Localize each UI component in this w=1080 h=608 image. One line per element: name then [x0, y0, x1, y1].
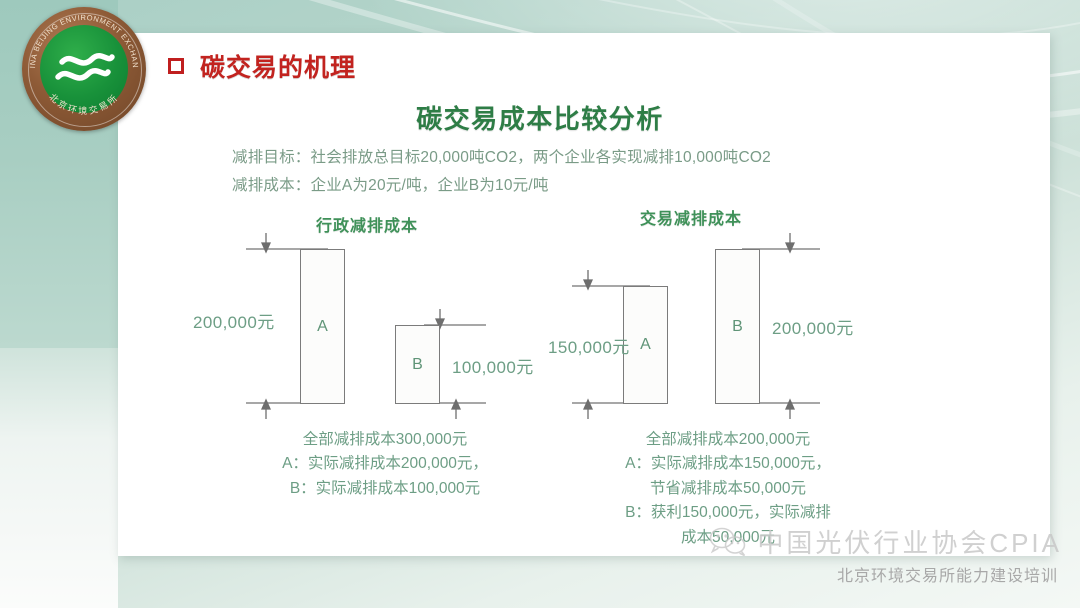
bar-left-b: B [395, 325, 440, 404]
chart-subtitle-2: 减排成本：企业A为20元/吨，企业B为10元/吨 [232, 173, 549, 195]
chart-title: 碳交易成本比较分析 [0, 99, 1080, 136]
chart-subtitle-1: 减排目标：社会排放总目标20,000吨CO2，两个企业各实现减排10,000吨C… [232, 145, 771, 167]
square-bullet-icon [168, 58, 184, 74]
value-label-right-b: 200,000元 [772, 314, 854, 339]
panel-label-trading: 交易减排成本 [640, 205, 742, 229]
svg-text:CHINA BEIJING ENVIRONMENT EXCH: CHINA BEIJING ENVIRONMENT EXCHANGE [22, 7, 140, 69]
page-title: 碳交易的机理 [200, 48, 356, 84]
watermark-subtitle: 北京环境交易所能力建设培训 [708, 562, 1058, 586]
bar-left-b-category: B [412, 356, 423, 374]
left-band-fade [0, 348, 118, 608]
bar-right-a-category: A [640, 336, 651, 354]
bar-left-a-category: A [317, 318, 328, 336]
caption-right: 全部减排成本200,000元 A：实际减排成本150,000元， 节省减排成本5… [578, 428, 878, 550]
slide: CHINA BEIJING ENVIRONMENT EXCHANGE 北京环境交… [0, 0, 1080, 608]
panel-label-administrative: 行政减排成本 [316, 212, 418, 236]
value-label-left-b: 100,000元 [452, 353, 534, 378]
caption-left: 全部减排成本300,000元 A：实际减排成本200,000元， B：实际减排成… [240, 428, 530, 501]
bar-right-a: A [623, 286, 668, 404]
value-label-left-a: 200,000元 [193, 308, 275, 333]
value-label-right-a: 150,000元 [548, 333, 630, 358]
bar-left-a: A [300, 249, 345, 404]
bar-right-b: B [715, 249, 760, 404]
page-header: 碳交易的机理 [168, 48, 356, 84]
bar-right-b-category: B [732, 318, 743, 336]
